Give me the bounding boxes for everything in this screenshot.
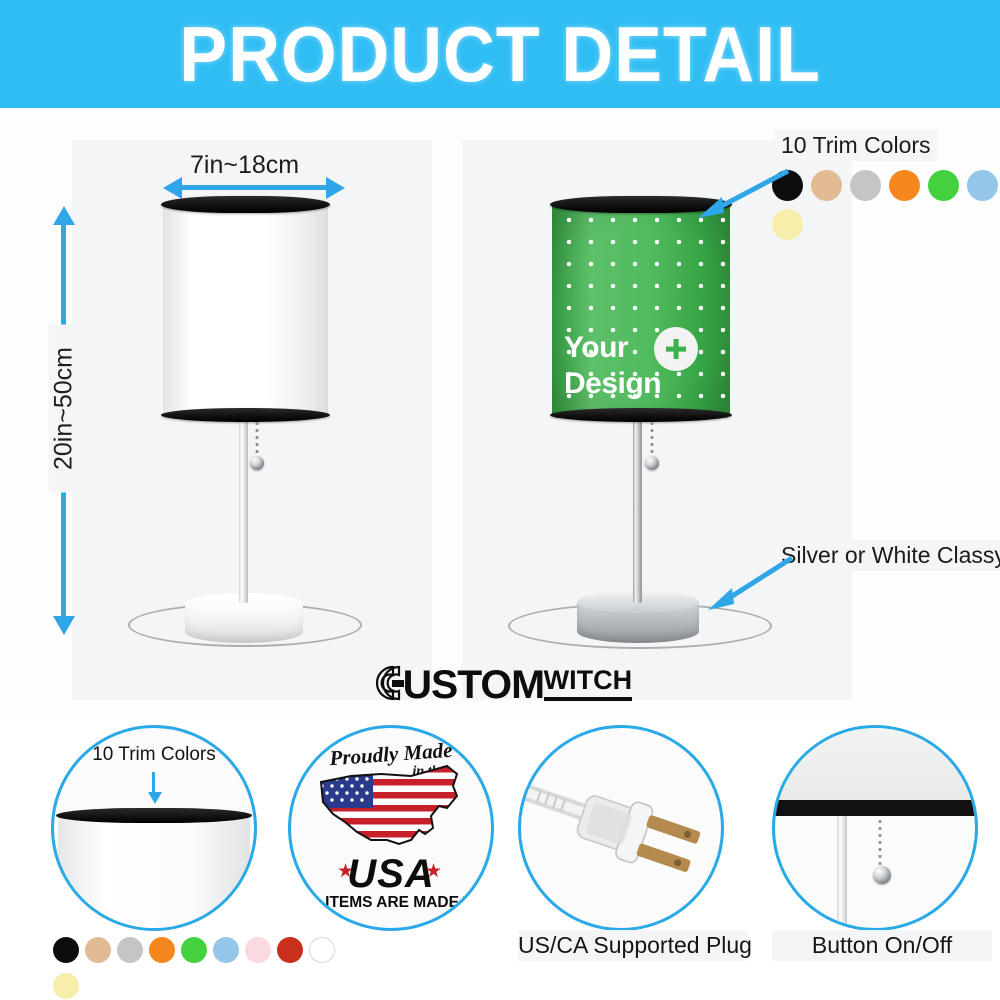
shade-trim-bottom-white — [161, 408, 330, 422]
pull-chain-custom[interactable] — [650, 420, 654, 458]
switch-caption: Button On/Off — [772, 930, 992, 961]
trim-callout-arrow-icon — [690, 163, 800, 223]
lamp-pole-white — [239, 408, 248, 603]
lamp-shade-white — [163, 203, 328, 418]
height-arrow-top-icon — [53, 206, 75, 225]
base-callout-arrow-icon — [700, 548, 810, 618]
swatch-green[interactable] — [928, 170, 959, 201]
trim-colors-swatch-row-top[interactable] — [772, 170, 1000, 201]
trim-pointer-arrow-icon — [148, 792, 162, 804]
brand-name-secondary: WITCH — [544, 665, 632, 701]
plug-caption: US/CA Supported Plug — [518, 930, 748, 961]
swatch-light-blue[interactable] — [213, 937, 239, 963]
swatch-tan[interactable] — [85, 937, 111, 963]
bottom-swatch-row-bottom[interactable] — [53, 973, 79, 999]
swatch-green[interactable] — [181, 937, 207, 963]
swatch-gray[interactable] — [117, 937, 143, 963]
swatch-orange[interactable] — [889, 170, 920, 201]
height-dimension-label: 20in~50cm — [49, 325, 80, 493]
made-in-usa-circle: Proudly Made in the — [288, 725, 494, 931]
width-dimension-line — [180, 185, 328, 190]
shade-surface — [163, 203, 328, 418]
usa-star-right-icon: ★ — [425, 860, 442, 883]
trim-colors-inner-label: 10 Trim Colors — [54, 744, 254, 766]
width-dimension-label: 7in~18cm — [186, 150, 303, 181]
plus-icon — [654, 327, 698, 371]
lamp-pole-crop — [837, 816, 847, 931]
page-title: PRODUCT DETAIL — [40, 0, 960, 108]
swatch-pink[interactable] — [245, 937, 271, 963]
swatch-tan[interactable] — [811, 170, 842, 201]
pull-chain-white[interactable] — [255, 420, 259, 458]
power-plug-icon — [523, 758, 721, 898]
brand-logo: USTOMWITCH — [0, 662, 1000, 709]
trim-colors-label: 10 Trim Colors — [775, 130, 937, 161]
feature-switch: Button On/Off — [772, 725, 992, 975]
switch-pull-chain[interactable] — [878, 818, 882, 870]
feature-plug: US/CA Supported Plug — [518, 725, 748, 975]
switch-pull-chain-ball[interactable] — [873, 866, 891, 884]
feature-trim-colors: 10 Trim Colors — [45, 725, 265, 995]
design-text-line1: Your — [564, 331, 628, 365]
feature-made-in-usa: Proudly Made in the — [288, 725, 498, 940]
plug-circle — [518, 725, 724, 931]
shade-trim-top-white — [161, 196, 330, 213]
trim-pointer-line — [152, 772, 155, 794]
width-arrow-left-icon — [163, 177, 182, 199]
trim-colors-circle: 10 Trim Colors — [51, 725, 257, 931]
shade-bottom-crop — [772, 725, 978, 800]
width-arrow-right-icon — [326, 177, 345, 199]
product-detail-page: PRODUCT DETAIL — [0, 0, 1000, 1000]
bottom-swatch-row-top[interactable] — [53, 937, 335, 963]
usa-flag-map-icon — [307, 756, 475, 860]
pull-chain-ball-custom[interactable] — [645, 456, 659, 470]
swatch-yellow[interactable] — [53, 973, 79, 999]
swatch-light-blue[interactable] — [967, 170, 998, 201]
pull-chain-ball-white[interactable] — [250, 456, 264, 470]
height-arrow-bottom-icon — [53, 616, 75, 635]
swatch-gray[interactable] — [850, 170, 881, 201]
swatch-black[interactable] — [53, 937, 79, 963]
lamp-pole-silver — [633, 408, 642, 603]
design-text-line2: Design — [564, 367, 661, 401]
lamp-trim-highlight — [56, 808, 252, 823]
shade-trim-bottom-custom — [550, 408, 732, 422]
switch-trim-bar — [772, 800, 978, 816]
brand-name-primary: USTOM — [403, 663, 544, 708]
main-panel: Your Design 7in~18cm 20in~50cm — [0, 108, 1000, 718]
swatch-white[interactable] — [309, 937, 335, 963]
swatch-red[interactable] — [277, 937, 303, 963]
lamp-shade-custom[interactable]: Your Design — [552, 203, 730, 418]
usa-made-to-order-text: ALL ITEMS ARE MADE TO ORDER! — [291, 894, 491, 912]
usa-word: USA — [291, 852, 491, 897]
lamp-shade-crop — [58, 816, 250, 931]
swatch-orange[interactable] — [149, 937, 175, 963]
switch-circle — [772, 725, 978, 931]
